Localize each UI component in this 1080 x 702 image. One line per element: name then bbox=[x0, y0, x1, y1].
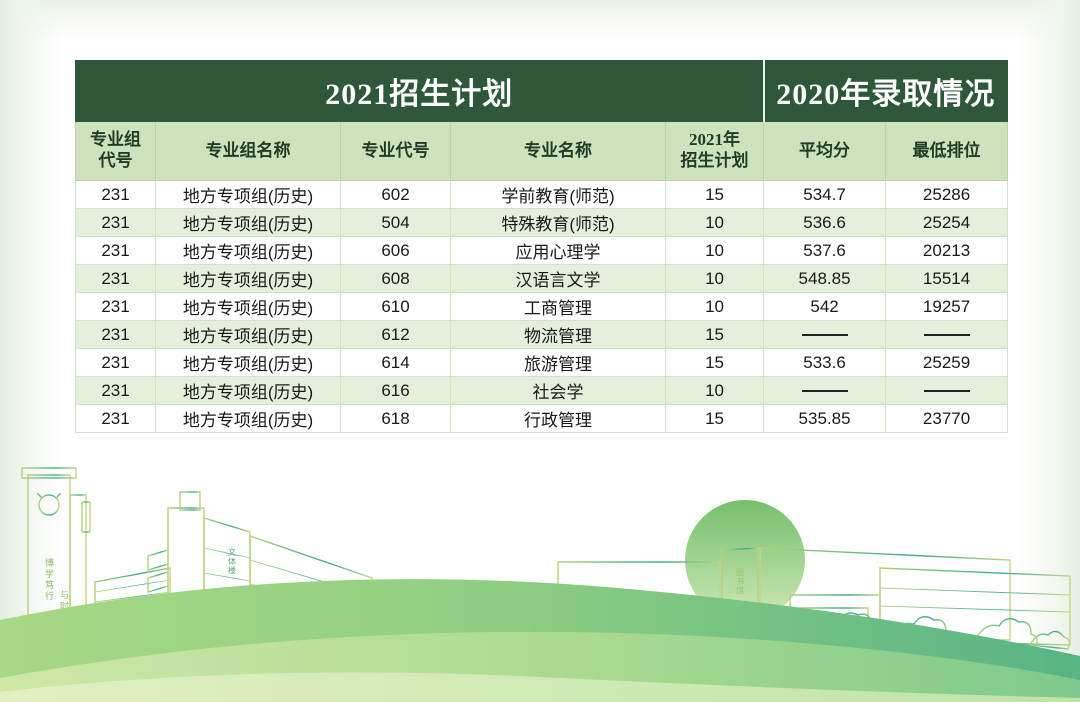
page-background: 2021招生计划 2020年录取情况 专业组 代号 专业组名称 专业代号 bbox=[0, 0, 1080, 702]
column-header-plan-2021-line1: 2021年 bbox=[666, 130, 763, 151]
table-row: 231地方专项组(历史)612物流管理15 bbox=[76, 321, 1008, 349]
cell-major_code: 606 bbox=[341, 237, 451, 265]
cell-plan_2021: 10 bbox=[666, 237, 764, 265]
no-data-dash bbox=[802, 390, 848, 392]
cell-major_name: 工商管理 bbox=[451, 293, 666, 321]
cell-group_name: 地方专项组(历史) bbox=[156, 321, 341, 349]
cell-major_code: 610 bbox=[341, 293, 451, 321]
cell-major_code: 612 bbox=[341, 321, 451, 349]
table-row: 231地方专项组(历史)608汉语言文学10548.8515514 bbox=[76, 265, 1008, 293]
no-data-dash bbox=[924, 390, 970, 392]
cell-plan_2021: 10 bbox=[666, 293, 764, 321]
cell-group_name: 地方专项组(历史) bbox=[156, 377, 341, 405]
cell-min_rank: 20213 bbox=[886, 237, 1008, 265]
cell-group_code: 231 bbox=[76, 349, 156, 377]
cell-avg_score: 534.7 bbox=[764, 181, 886, 209]
banner-title-2021-plan: 2021招生计划 bbox=[76, 61, 764, 122]
table-banner-row: 2021招生计划 2020年录取情况 bbox=[76, 61, 1008, 122]
table-row: 231地方专项组(历史)504特殊教育(师范)10536.625254 bbox=[76, 209, 1008, 237]
table-row: 231地方专项组(历史)614旅游管理15533.625259 bbox=[76, 349, 1008, 377]
cell-min_rank: 25259 bbox=[886, 349, 1008, 377]
cell-major_code: 616 bbox=[341, 377, 451, 405]
column-header-major-code-line1: 专业代号 bbox=[341, 141, 450, 162]
cell-major_name: 社会学 bbox=[451, 377, 666, 405]
cell-major_name: 特殊教育(师范) bbox=[451, 209, 666, 237]
table-row: 231地方专项组(历史)616社会学10 bbox=[76, 377, 1008, 405]
cell-group_name: 地方专项组(历史) bbox=[156, 181, 341, 209]
column-header-plan-2021-line2: 招生计划 bbox=[666, 151, 763, 172]
cell-plan_2021: 15 bbox=[666, 349, 764, 377]
cell-plan_2021: 10 bbox=[666, 265, 764, 293]
cell-group_name: 地方专项组(历史) bbox=[156, 349, 341, 377]
cell-min_rank: 23770 bbox=[886, 405, 1008, 433]
cell-avg_score: 533.6 bbox=[764, 349, 886, 377]
column-header-major-name-line1: 专业名称 bbox=[451, 141, 665, 162]
cell-group_code: 231 bbox=[76, 377, 156, 405]
cell-avg_score: 537.6 bbox=[764, 237, 886, 265]
building-label-library: 图书馆 bbox=[736, 568, 745, 595]
cell-major_code: 618 bbox=[341, 405, 451, 433]
cell-major_code: 602 bbox=[341, 181, 451, 209]
building-outlines bbox=[22, 468, 1070, 662]
tower-motto-text: 博学笃行 bbox=[44, 557, 54, 602]
sun-shape bbox=[685, 500, 805, 620]
table-row: 231地方专项组(历史)606应用心理学10537.620213 bbox=[76, 237, 1008, 265]
cell-major_name: 学前教育(师范) bbox=[451, 181, 666, 209]
column-header-major-name: 专业名称 bbox=[451, 122, 666, 181]
cell-plan_2021: 15 bbox=[666, 321, 764, 349]
cell-plan_2021: 10 bbox=[666, 377, 764, 405]
banner-title-2020-result: 2020年录取情况 bbox=[764, 61, 1008, 122]
cell-min_rank bbox=[886, 377, 1008, 405]
cell-group_name: 地方专项组(历史) bbox=[156, 405, 341, 433]
cell-group_name: 地方专项组(历史) bbox=[156, 293, 341, 321]
cell-avg_score bbox=[764, 377, 886, 405]
cell-plan_2021: 10 bbox=[666, 209, 764, 237]
cell-major_name: 汉语言文学 bbox=[451, 265, 666, 293]
admission-plan-table: 2021招生计划 2020年录取情况 专业组 代号 专业组名称 专业代号 bbox=[75, 60, 1008, 433]
column-header-plan-2021: 2021年 招生计划 bbox=[666, 122, 764, 181]
column-header-group-name: 专业组名称 bbox=[156, 122, 341, 181]
campus-illustration: 博学笃行 与时偕行 文体楼 图书馆 bbox=[0, 440, 1080, 702]
cell-group_name: 地方专项组(历史) bbox=[156, 209, 341, 237]
cell-group_code: 231 bbox=[76, 321, 156, 349]
cell-avg_score: 536.6 bbox=[764, 209, 886, 237]
building-label-wenti: 文体楼 bbox=[228, 547, 237, 575]
table-column-header-row: 专业组 代号 专业组名称 专业代号 专业名称 2021年 招生计划 bbox=[76, 122, 1008, 181]
cell-min_rank: 19257 bbox=[886, 293, 1008, 321]
column-header-group-name-line1: 专业组名称 bbox=[156, 141, 340, 162]
column-header-avg-score-line1: 平均分 bbox=[764, 141, 885, 162]
no-data-dash bbox=[802, 334, 848, 336]
cell-group_code: 231 bbox=[76, 405, 156, 433]
cell-plan_2021: 15 bbox=[666, 181, 764, 209]
cell-group_code: 231 bbox=[76, 237, 156, 265]
cell-major_code: 504 bbox=[341, 209, 451, 237]
cell-major_code: 608 bbox=[341, 265, 451, 293]
cell-avg_score bbox=[764, 321, 886, 349]
cell-min_rank: 15514 bbox=[886, 265, 1008, 293]
cell-plan_2021: 15 bbox=[666, 405, 764, 433]
column-header-min-rank: 最低排位 bbox=[886, 122, 1008, 181]
table-row: 231地方专项组(历史)618行政管理15535.8523770 bbox=[76, 405, 1008, 433]
hill-mid bbox=[0, 632, 1080, 702]
table-row: 231地方专项组(历史)602学前教育(师范)15534.725286 bbox=[76, 181, 1008, 209]
column-header-group-code-line2: 代号 bbox=[76, 151, 155, 172]
cell-avg_score: 548.85 bbox=[764, 265, 886, 293]
cell-min_rank: 25286 bbox=[886, 181, 1008, 209]
hill-front bbox=[0, 672, 1080, 702]
column-header-min-rank-line1: 最低排位 bbox=[886, 141, 1007, 162]
cell-major_name: 物流管理 bbox=[451, 321, 666, 349]
table-row: 231地方专项组(历史)610工商管理1054219257 bbox=[76, 293, 1008, 321]
cell-major_name: 行政管理 bbox=[451, 405, 666, 433]
cell-major_code: 614 bbox=[341, 349, 451, 377]
cell-group_name: 地方专项组(历史) bbox=[156, 265, 341, 293]
admission-plan-table-container: 2021招生计划 2020年录取情况 专业组 代号 专业组名称 专业代号 bbox=[75, 60, 1007, 433]
cell-group_code: 231 bbox=[76, 265, 156, 293]
column-header-group-code: 专业组 代号 bbox=[76, 122, 156, 181]
column-header-avg-score: 平均分 bbox=[764, 122, 886, 181]
cell-group_code: 231 bbox=[76, 181, 156, 209]
column-header-group-code-line1: 专业组 bbox=[76, 130, 155, 151]
cell-group_code: 231 bbox=[76, 209, 156, 237]
cell-group_name: 地方专项组(历史) bbox=[156, 237, 341, 265]
cell-major_name: 旅游管理 bbox=[451, 349, 666, 377]
hill-back bbox=[0, 579, 1080, 702]
tower-motto-text-2: 与时偕行 bbox=[59, 590, 69, 634]
cell-avg_score: 535.85 bbox=[764, 405, 886, 433]
table-body: 231地方专项组(历史)602学前教育(师范)15534.725286231地方… bbox=[76, 181, 1008, 433]
cell-group_code: 231 bbox=[76, 293, 156, 321]
cell-min_rank: 25254 bbox=[886, 209, 1008, 237]
cell-min_rank bbox=[886, 321, 1008, 349]
column-header-major-code: 专业代号 bbox=[341, 122, 451, 181]
no-data-dash bbox=[924, 334, 970, 336]
cell-avg_score: 542 bbox=[764, 293, 886, 321]
cell-major_name: 应用心理学 bbox=[451, 237, 666, 265]
